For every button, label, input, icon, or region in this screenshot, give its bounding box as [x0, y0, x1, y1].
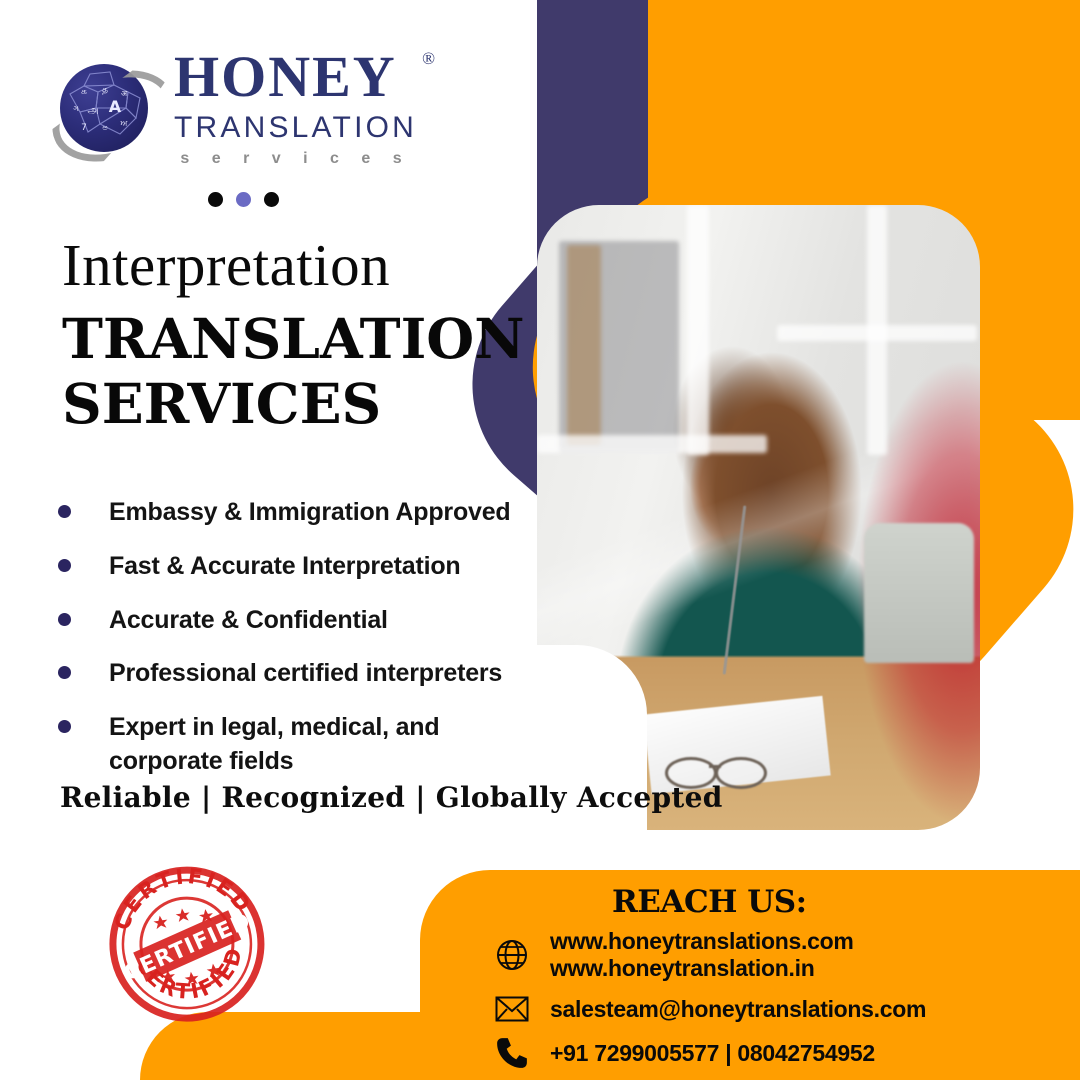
registered-mark: ®	[422, 50, 437, 67]
list-item-label: Professional certified interpreters	[109, 657, 502, 691]
decor-dot-1	[208, 192, 223, 207]
svg-text:க: க	[81, 87, 87, 97]
bullet-dot-icon	[58, 666, 71, 679]
list-item-label: Fast & Accurate Interpretation	[109, 550, 460, 584]
feature-list: Embassy & Immigration Approved Fast & Ac…	[58, 496, 528, 799]
headline-line1: TRANSLATION	[62, 307, 524, 372]
bullet-dot-icon	[58, 559, 71, 572]
phone-icon	[492, 1036, 532, 1070]
decor-dot-2	[236, 192, 251, 207]
list-item: Fast & Accurate Interpretation	[58, 550, 528, 584]
list-item: Professional certified interpreters	[58, 657, 528, 691]
contact-row-phone[interactable]: +91 7299005577 | 08042754952	[492, 1036, 926, 1070]
list-item: Accurate & Confidential	[58, 604, 528, 638]
contact-list: www.honeytranslations.com www.honeytrans…	[492, 928, 926, 1080]
headline-block: Interpretation TRANSLATION SERVICES	[62, 236, 524, 437]
globe-languages-icon: க த अ ગ அ A 7 ಅ ਅ	[52, 54, 160, 162]
contact-row-website[interactable]: www.honeytranslations.com www.honeytrans…	[492, 928, 926, 982]
list-item: Embassy & Immigration Approved	[58, 496, 528, 530]
contact-title: REACH US:	[612, 884, 807, 920]
logo-line-services: s e r v i c e s	[174, 151, 417, 167]
website-line-1[interactable]: www.honeytranslations.com	[550, 928, 853, 954]
list-item-label: Embassy & Immigration Approved	[109, 496, 511, 530]
globe-icon	[492, 938, 532, 972]
brand-logo: க த अ ગ அ A 7 ಅ ਅ HONEY® TRANSLA	[52, 48, 417, 167]
phone-number[interactable]: +91 7299005577 | 08042754952	[550, 1040, 875, 1067]
logo-wordmark: HONEY®	[174, 48, 417, 106]
bullet-dot-icon	[58, 720, 71, 733]
decor-dots-row	[208, 192, 279, 207]
contact-row-email[interactable]: salesteam@honeytranslations.com	[492, 995, 926, 1023]
bullet-dot-icon	[58, 505, 71, 518]
logo-name: HONEY	[174, 44, 397, 109]
logo-line-translation: TRANSLATION	[174, 113, 417, 143]
email-address[interactable]: salesteam@honeytranslations.com	[550, 996, 926, 1023]
website-line-2[interactable]: www.honeytranslation.in	[550, 955, 853, 982]
poster-canvas: க த अ ગ அ A 7 ಅ ਅ HONEY® TRANSLA	[0, 0, 1080, 1080]
list-item-label: Accurate & Confidential	[109, 604, 388, 638]
list-item-label: Expert in legal, medical, and corporate …	[109, 711, 449, 779]
headline-script: Interpretation	[62, 236, 524, 295]
tagline: Reliable | Recognized | Globally Accepte…	[60, 781, 723, 814]
decor-dot-3	[264, 192, 279, 207]
list-item: Expert in legal, medical, and corporate …	[58, 711, 528, 779]
headline-line2: SERVICES	[62, 372, 524, 437]
certified-stamp-icon: CERTIFIED CERTIFIED CERTIFIED	[94, 851, 280, 1037]
bullet-dot-icon	[58, 613, 71, 626]
envelope-icon	[492, 995, 532, 1023]
